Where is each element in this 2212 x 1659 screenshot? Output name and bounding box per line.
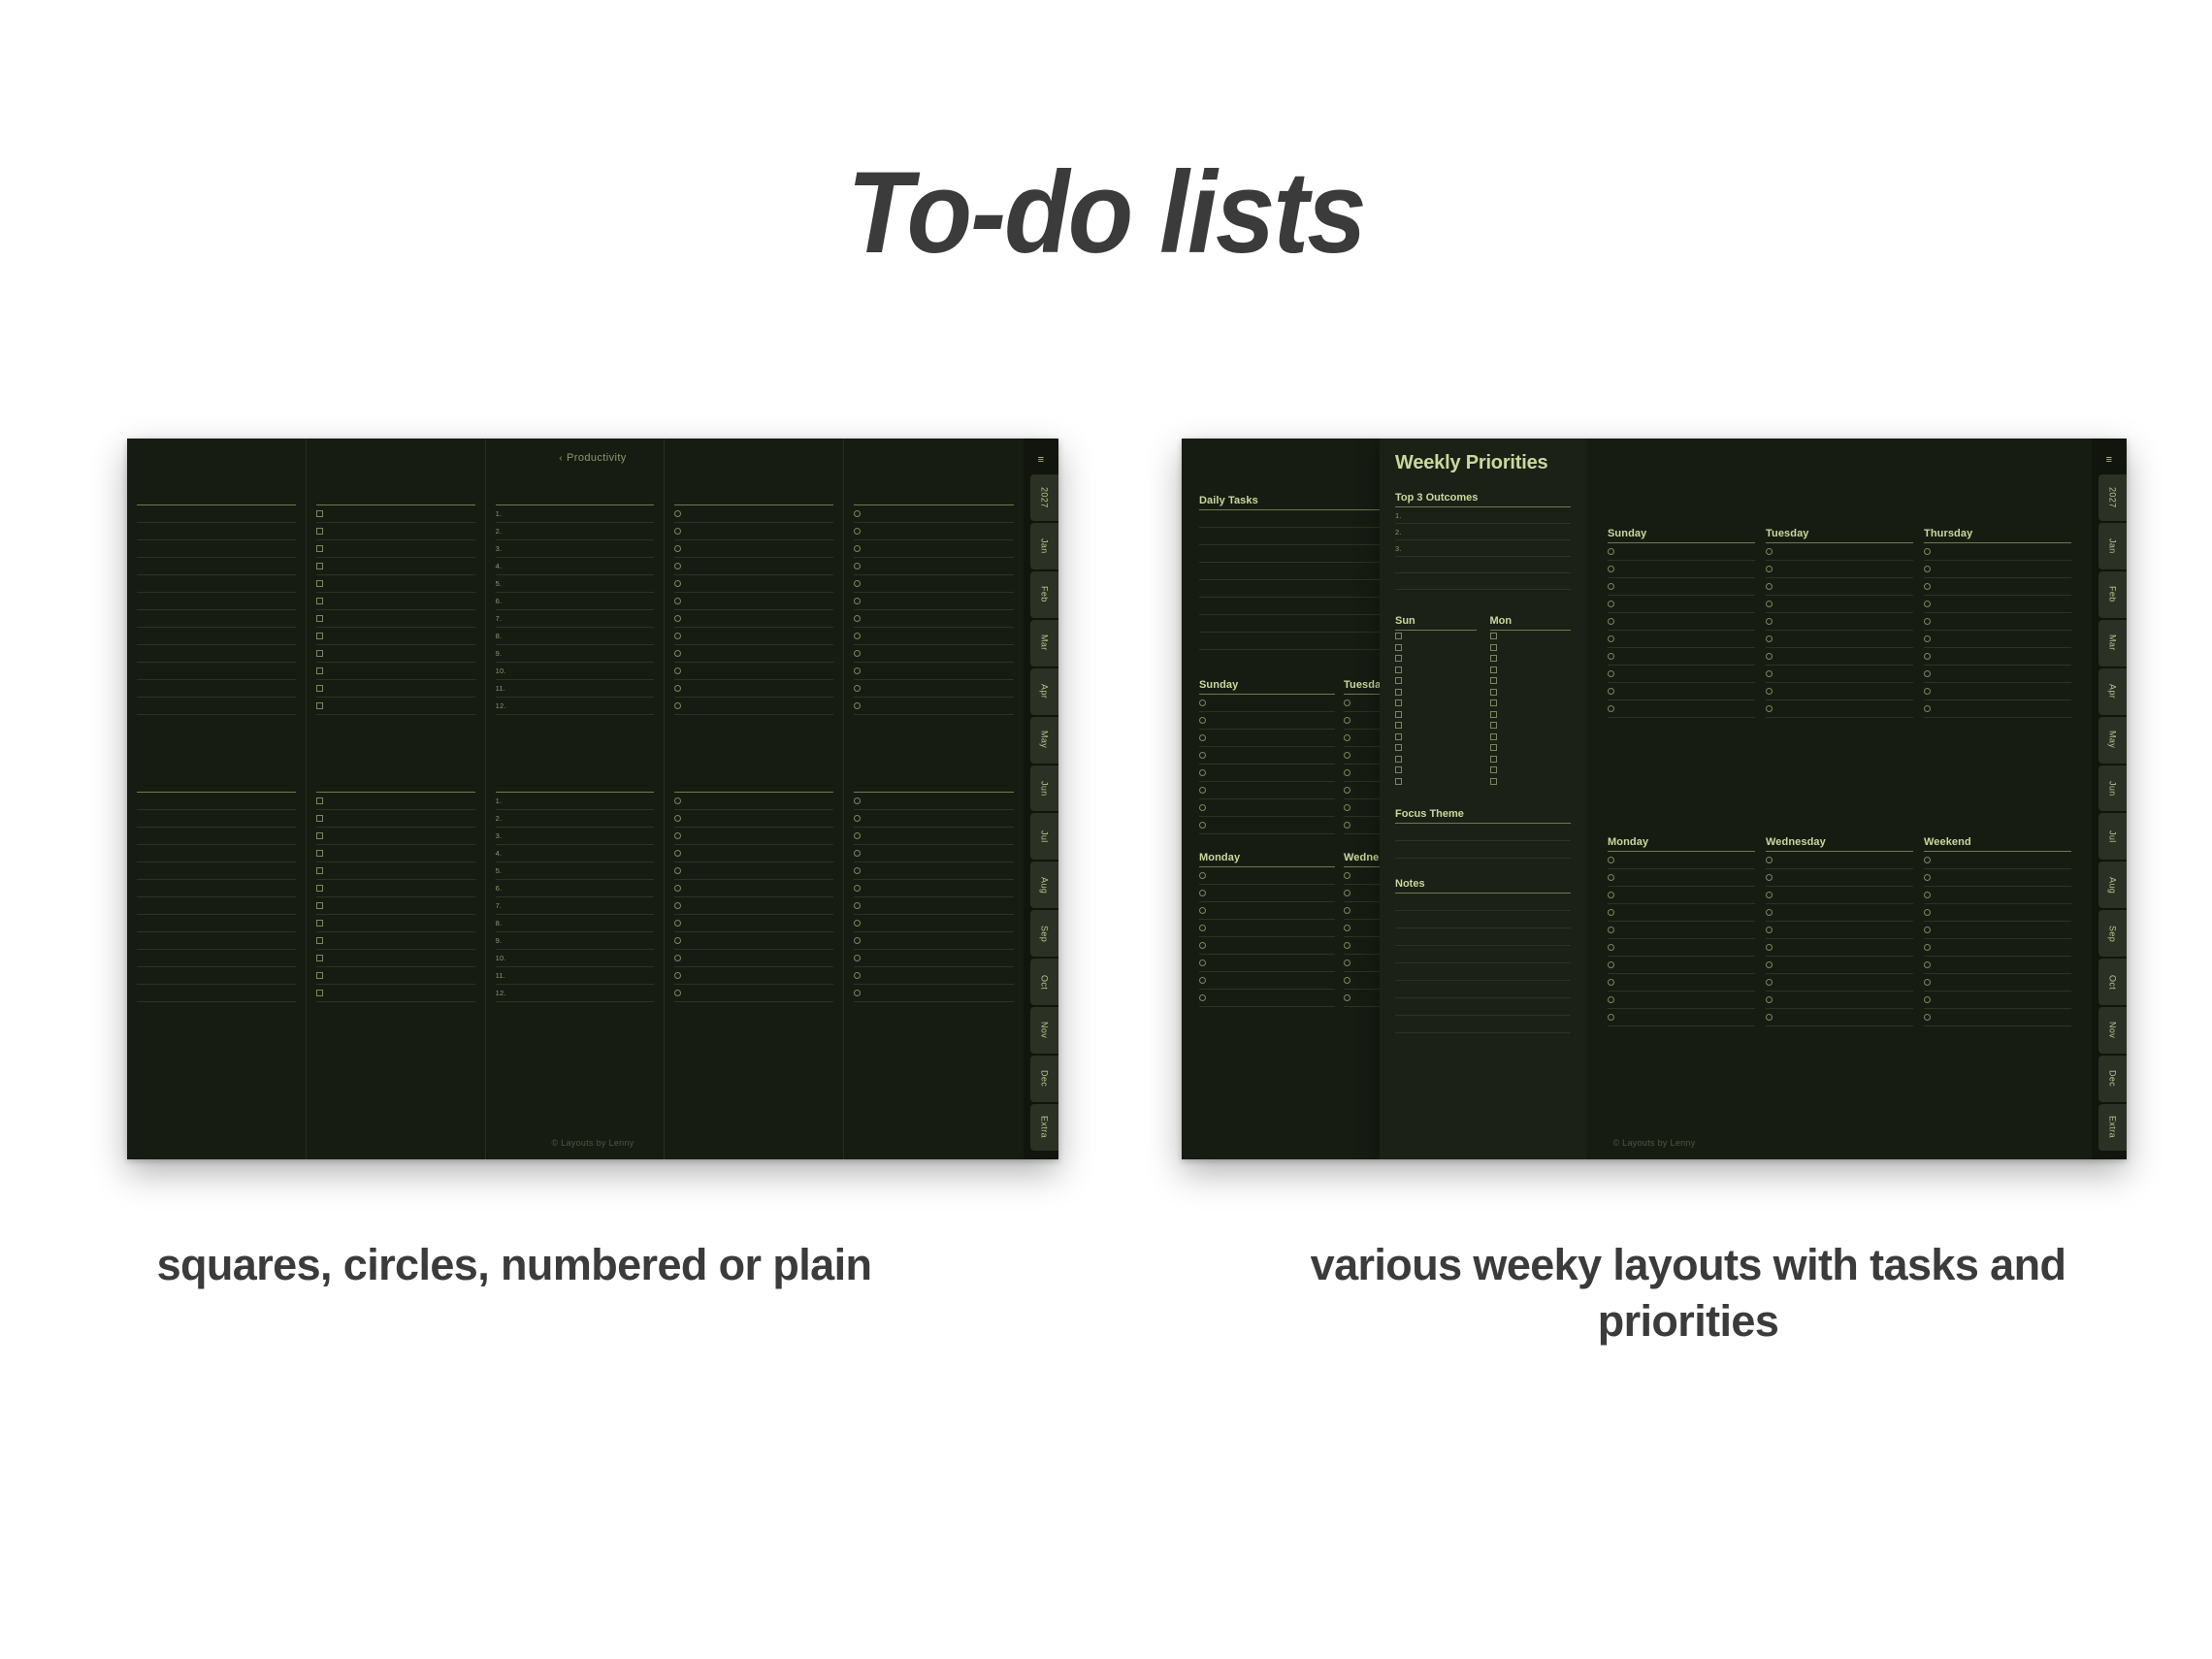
task-row[interactable] — [1395, 963, 1571, 981]
task-row[interactable] — [1924, 613, 2071, 631]
checkbox-square-icon[interactable] — [316, 702, 323, 709]
checkbox-square-icon[interactable] — [1395, 766, 1402, 773]
task-row[interactable] — [1199, 920, 1335, 937]
task-row[interactable] — [1608, 904, 1755, 922]
task-row[interactable] — [674, 593, 833, 610]
task-row[interactable] — [1608, 974, 1755, 992]
checkbox-square-icon[interactable] — [316, 937, 323, 944]
checkbox-circle-icon[interactable] — [1199, 822, 1206, 829]
task-row[interactable] — [1608, 543, 1755, 561]
checkbox-circle-icon[interactable] — [1608, 548, 1614, 555]
task-row[interactable] — [854, 558, 1014, 575]
task-row[interactable] — [674, 932, 833, 950]
checkbox-circle-icon[interactable] — [854, 867, 861, 874]
task-row[interactable] — [1490, 675, 1572, 687]
task-row[interactable] — [674, 845, 833, 862]
task-row[interactable] — [854, 663, 1014, 680]
task-row[interactable] — [674, 645, 833, 663]
checkbox-circle-icon[interactable] — [674, 867, 681, 874]
task-row[interactable] — [1395, 928, 1571, 946]
checkbox-circle-icon[interactable] — [1199, 769, 1206, 776]
task-row[interactable] — [1766, 974, 1913, 992]
checkbox-circle-icon[interactable] — [1766, 1014, 1773, 1021]
checkbox-circle-icon[interactable] — [1344, 977, 1350, 984]
task-row[interactable] — [137, 593, 296, 610]
checkbox-circle-icon[interactable] — [1766, 996, 1773, 1003]
checkbox-circle-icon[interactable] — [674, 685, 681, 692]
checkbox-square-icon[interactable] — [1490, 644, 1497, 651]
task-row[interactable] — [1608, 922, 1755, 939]
checkbox-circle-icon[interactable] — [1344, 717, 1350, 724]
task-row[interactable] — [854, 810, 1014, 828]
task-row[interactable] — [1924, 631, 2071, 648]
task-row[interactable] — [137, 610, 296, 628]
task-row[interactable]: 1. — [496, 505, 655, 523]
task-row[interactable] — [674, 915, 833, 932]
checkbox-square-icon[interactable] — [316, 955, 323, 961]
task-row[interactable] — [674, 663, 833, 680]
month-tab-aug[interactable]: Aug — [2098, 862, 2127, 908]
task-row[interactable] — [1924, 992, 2071, 1009]
checkbox-square-icon[interactable] — [1395, 699, 1402, 706]
task-row[interactable] — [1924, 922, 2071, 939]
task-row[interactable] — [137, 897, 296, 915]
task-row[interactable] — [1766, 648, 1913, 666]
checkbox-square-icon[interactable] — [316, 563, 323, 569]
task-row[interactable] — [1924, 869, 2071, 887]
task-row[interactable] — [1490, 687, 1572, 699]
checkbox-circle-icon[interactable] — [674, 528, 681, 535]
task-row[interactable] — [1395, 557, 1571, 573]
checkbox-circle-icon[interactable] — [854, 615, 861, 622]
checkbox-circle-icon[interactable] — [1766, 601, 1773, 607]
checkbox-circle-icon[interactable] — [674, 920, 681, 927]
checkbox-square-icon[interactable] — [1395, 711, 1402, 718]
checkbox-circle-icon[interactable] — [1608, 857, 1614, 863]
checkbox-circle-icon[interactable] — [1199, 734, 1206, 741]
task-row[interactable] — [316, 967, 475, 985]
task-row[interactable] — [137, 810, 296, 828]
task-row[interactable] — [1395, 894, 1571, 911]
task-row[interactable] — [137, 862, 296, 880]
checkbox-square-icon[interactable] — [1490, 778, 1497, 785]
task-row[interactable] — [1924, 648, 2071, 666]
task-row[interactable] — [137, 628, 296, 645]
task-row[interactable] — [1924, 887, 2071, 904]
checkbox-circle-icon[interactable] — [1199, 994, 1206, 1001]
checkbox-circle-icon[interactable] — [1344, 890, 1350, 896]
checkbox-circle-icon[interactable] — [1766, 653, 1773, 660]
checkbox-circle-icon[interactable] — [1924, 618, 1931, 625]
task-row[interactable] — [854, 575, 1014, 593]
task-row[interactable] — [854, 540, 1014, 558]
task-row[interactable] — [1608, 648, 1755, 666]
checkbox-square-icon[interactable] — [1490, 633, 1497, 639]
task-row[interactable] — [137, 828, 296, 845]
checkbox-circle-icon[interactable] — [1344, 769, 1350, 776]
checkbox-circle-icon[interactable] — [1924, 944, 1931, 951]
checkbox-square-icon[interactable] — [316, 902, 323, 909]
month-tab-apr[interactable]: Apr — [2098, 668, 2127, 715]
task-row[interactable] — [137, 523, 296, 540]
task-row[interactable] — [674, 505, 833, 523]
month-tab-may[interactable]: May — [2098, 717, 2127, 764]
checkbox-circle-icon[interactable] — [1766, 583, 1773, 590]
checkbox-circle-icon[interactable] — [674, 902, 681, 909]
task-row[interactable] — [1490, 698, 1572, 709]
checkbox-square-icon[interactable] — [316, 920, 323, 927]
task-row[interactable] — [1395, 946, 1571, 963]
task-row[interactable] — [1490, 776, 1572, 788]
checkbox-circle-icon[interactable] — [1924, 979, 1931, 986]
checkbox-square-icon[interactable] — [1490, 711, 1497, 718]
task-row[interactable] — [1199, 799, 1335, 817]
task-row[interactable] — [1766, 992, 1913, 1009]
checkbox-square-icon[interactable] — [1395, 633, 1402, 639]
checkbox-square-icon[interactable] — [1395, 667, 1402, 673]
task-row[interactable]: 9. — [496, 645, 655, 663]
outcome-row[interactable]: 3. — [1395, 540, 1571, 557]
checkbox-circle-icon[interactable] — [1608, 1014, 1614, 1021]
task-row[interactable] — [316, 950, 475, 967]
task-row[interactable] — [137, 985, 296, 1002]
checkbox-circle-icon[interactable] — [674, 667, 681, 674]
checkbox-circle-icon[interactable] — [854, 650, 861, 657]
task-row[interactable] — [1608, 957, 1755, 974]
task-row[interactable] — [674, 897, 833, 915]
checkbox-circle-icon[interactable] — [1199, 872, 1206, 879]
checkbox-circle-icon[interactable] — [1766, 961, 1773, 968]
task-row[interactable] — [1395, 709, 1477, 721]
task-row[interactable] — [316, 610, 475, 628]
task-row[interactable] — [316, 645, 475, 663]
task-row[interactable] — [1199, 817, 1335, 834]
checkbox-circle-icon[interactable] — [1199, 907, 1206, 914]
task-row[interactable] — [1395, 720, 1477, 732]
month-tab-aug[interactable]: Aug — [1030, 862, 1058, 908]
checkbox-circle-icon[interactable] — [1924, 705, 1931, 712]
checkbox-circle-icon[interactable] — [674, 598, 681, 604]
checkbox-circle-icon[interactable] — [1924, 857, 1931, 863]
task-row[interactable] — [1924, 974, 2071, 992]
checkbox-circle-icon[interactable] — [1766, 635, 1773, 642]
task-row[interactable]: 4. — [496, 845, 655, 862]
checkbox-circle-icon[interactable] — [854, 580, 861, 587]
checkbox-square-icon[interactable] — [316, 815, 323, 822]
checkbox-square-icon[interactable] — [1490, 667, 1497, 673]
task-row[interactable]: 4. — [496, 558, 655, 575]
checkbox-circle-icon[interactable] — [1344, 752, 1350, 759]
task-row[interactable] — [316, 793, 475, 810]
checkbox-circle-icon[interactable] — [1924, 1014, 1931, 1021]
month-tab-apr[interactable]: Apr — [1030, 668, 1058, 715]
task-row[interactable] — [674, 985, 833, 1002]
task-row[interactable] — [1924, 852, 2071, 869]
checkbox-square-icon[interactable] — [316, 867, 323, 874]
month-tab-jun[interactable]: Jun — [1030, 765, 1058, 812]
task-row[interactable] — [1924, 543, 2071, 561]
outcome-row[interactable]: 1. — [1395, 507, 1571, 524]
month-tab-nov[interactable]: Nov — [1030, 1007, 1058, 1054]
checkbox-circle-icon[interactable] — [1924, 961, 1931, 968]
month-tab-mar[interactable]: Mar — [1030, 620, 1058, 667]
task-row[interactable] — [1924, 561, 2071, 578]
checkbox-circle-icon[interactable] — [1608, 566, 1614, 572]
checkbox-circle-icon[interactable] — [1344, 734, 1350, 741]
checkbox-circle-icon[interactable] — [854, 885, 861, 892]
month-tab-oct[interactable]: Oct — [2098, 959, 2127, 1005]
task-row[interactable] — [1766, 596, 1913, 613]
task-row[interactable] — [854, 628, 1014, 645]
task-row[interactable] — [1766, 561, 1913, 578]
task-row[interactable] — [1924, 666, 2071, 683]
checkbox-circle-icon[interactable] — [674, 937, 681, 944]
task-row[interactable] — [1608, 869, 1755, 887]
checkbox-circle-icon[interactable] — [854, 667, 861, 674]
task-row[interactable] — [1199, 867, 1335, 885]
checkbox-square-icon[interactable] — [316, 685, 323, 692]
hamburger-icon[interactable]: ≡ — [1024, 447, 1058, 472]
task-row[interactable] — [1766, 904, 1913, 922]
checkbox-circle-icon[interactable] — [1766, 705, 1773, 712]
task-row[interactable] — [1490, 665, 1572, 676]
checkbox-circle-icon[interactable] — [1608, 909, 1614, 916]
task-row[interactable] — [854, 680, 1014, 698]
task-row[interactable] — [1490, 709, 1572, 721]
checkbox-circle-icon[interactable] — [1608, 961, 1614, 968]
task-row[interactable] — [674, 680, 833, 698]
checkbox-circle-icon[interactable] — [1924, 874, 1931, 881]
task-row[interactable]: 3. — [496, 828, 655, 845]
task-row[interactable] — [137, 540, 296, 558]
task-row[interactable] — [1199, 972, 1335, 990]
checkbox-circle-icon[interactable] — [854, 528, 861, 535]
checkbox-circle-icon[interactable] — [1924, 635, 1931, 642]
checkbox-square-icon[interactable] — [1395, 722, 1402, 729]
checkbox-circle-icon[interactable] — [1766, 548, 1773, 555]
task-row[interactable] — [316, 680, 475, 698]
task-row[interactable] — [1924, 904, 2071, 922]
task-row[interactable] — [1924, 700, 2071, 718]
month-tab-jul[interactable]: Jul — [1030, 813, 1058, 860]
task-row[interactable] — [1608, 578, 1755, 596]
checkbox-circle-icon[interactable] — [1766, 909, 1773, 916]
month-tab-oct[interactable]: Oct — [1030, 959, 1058, 1005]
checkbox-circle-icon[interactable] — [674, 563, 681, 569]
checkbox-square-icon[interactable] — [1395, 744, 1402, 751]
task-row[interactable] — [316, 828, 475, 845]
checkbox-square-icon[interactable] — [316, 850, 323, 857]
checkbox-circle-icon[interactable] — [1608, 927, 1614, 933]
task-row[interactable] — [1199, 764, 1335, 782]
task-row[interactable] — [1199, 955, 1335, 972]
task-row[interactable] — [316, 915, 475, 932]
task-row[interactable] — [316, 897, 475, 915]
task-row[interactable]: 7. — [496, 897, 655, 915]
task-row[interactable] — [1608, 666, 1755, 683]
checkbox-circle-icon[interactable] — [1608, 688, 1614, 695]
checkbox-circle-icon[interactable] — [1199, 925, 1206, 931]
task-row[interactable] — [1395, 631, 1477, 642]
checkbox-circle-icon[interactable] — [1766, 944, 1773, 951]
task-row[interactable] — [137, 645, 296, 663]
checkbox-circle-icon[interactable] — [854, 955, 861, 961]
task-row[interactable] — [137, 915, 296, 932]
task-row[interactable]: 8. — [496, 915, 655, 932]
checkbox-square-icon[interactable] — [316, 667, 323, 674]
task-row[interactable] — [1608, 887, 1755, 904]
month-tab-jan[interactable]: Jan — [2098, 523, 2127, 569]
checkbox-circle-icon[interactable] — [674, 972, 681, 979]
task-row[interactable] — [1924, 939, 2071, 957]
task-row[interactable] — [137, 845, 296, 862]
month-tab-sep[interactable]: Sep — [2098, 910, 2127, 957]
task-row[interactable] — [1395, 573, 1571, 590]
task-row[interactable] — [316, 593, 475, 610]
task-row[interactable] — [316, 845, 475, 862]
checkbox-circle-icon[interactable] — [1344, 699, 1350, 706]
checkbox-square-icon[interactable] — [1490, 722, 1497, 729]
task-row[interactable] — [137, 680, 296, 698]
checkbox-square-icon[interactable] — [316, 545, 323, 552]
task-row[interactable] — [137, 793, 296, 810]
checkbox-circle-icon[interactable] — [1924, 909, 1931, 916]
task-row[interactable] — [1608, 992, 1755, 1009]
task-row[interactable]: 6. — [496, 593, 655, 610]
task-row[interactable] — [854, 645, 1014, 663]
task-row[interactable] — [674, 793, 833, 810]
task-row[interactable] — [316, 523, 475, 540]
task-row[interactable] — [1766, 578, 1913, 596]
task-row[interactable] — [316, 628, 475, 645]
task-row[interactable] — [1924, 578, 2071, 596]
hamburger-icon[interactable]: ≡ — [2092, 447, 2127, 472]
task-row[interactable] — [1395, 698, 1477, 709]
checkbox-circle-icon[interactable] — [1766, 927, 1773, 933]
checkbox-square-icon[interactable] — [1490, 699, 1497, 706]
task-row[interactable] — [1199, 712, 1335, 730]
task-row[interactable] — [1766, 852, 1913, 869]
month-tab-nov[interactable]: Nov — [2098, 1007, 2127, 1054]
checkbox-circle-icon[interactable] — [1199, 977, 1206, 984]
checkbox-circle-icon[interactable] — [1766, 857, 1773, 863]
task-row[interactable] — [316, 505, 475, 523]
checkbox-square-icon[interactable] — [1395, 756, 1402, 763]
task-row[interactable] — [674, 698, 833, 715]
checkbox-square-icon[interactable] — [1490, 655, 1497, 662]
checkbox-circle-icon[interactable] — [1344, 787, 1350, 794]
task-row[interactable] — [1766, 543, 1913, 561]
task-row[interactable] — [1395, 642, 1477, 654]
task-row[interactable]: 1. — [496, 793, 655, 810]
task-row[interactable] — [137, 880, 296, 897]
month-tab-mar[interactable]: Mar — [2098, 620, 2127, 667]
checkbox-circle-icon[interactable] — [1608, 874, 1614, 881]
task-row[interactable] — [1608, 631, 1755, 648]
task-row[interactable] — [674, 828, 833, 845]
checkbox-circle-icon[interactable] — [1924, 892, 1931, 898]
task-row[interactable] — [1395, 1016, 1571, 1033]
task-row[interactable] — [674, 628, 833, 645]
task-row[interactable] — [1395, 687, 1477, 699]
checkbox-square-icon[interactable] — [316, 528, 323, 535]
task-row[interactable] — [1766, 957, 1913, 974]
checkbox-circle-icon[interactable] — [1199, 717, 1206, 724]
task-row[interactable] — [1924, 596, 2071, 613]
task-row[interactable] — [316, 575, 475, 593]
month-tab-jul[interactable]: Jul — [2098, 813, 2127, 860]
task-row[interactable] — [674, 967, 833, 985]
checkbox-circle-icon[interactable] — [854, 510, 861, 517]
task-row[interactable] — [1395, 841, 1571, 859]
task-row[interactable] — [1608, 561, 1755, 578]
task-row[interactable] — [1395, 911, 1571, 928]
task-row[interactable] — [137, 663, 296, 680]
checkbox-circle-icon[interactable] — [1199, 890, 1206, 896]
checkbox-square-icon[interactable] — [1490, 766, 1497, 773]
checkbox-circle-icon[interactable] — [1766, 566, 1773, 572]
checkbox-circle-icon[interactable] — [854, 972, 861, 979]
checkbox-circle-icon[interactable] — [854, 563, 861, 569]
checkbox-circle-icon[interactable] — [1924, 996, 1931, 1003]
checkbox-circle-icon[interactable] — [1344, 925, 1350, 931]
task-row[interactable] — [316, 932, 475, 950]
checkbox-circle-icon[interactable] — [674, 815, 681, 822]
task-row[interactable] — [674, 575, 833, 593]
checkbox-circle-icon[interactable] — [1766, 892, 1773, 898]
task-row[interactable] — [137, 575, 296, 593]
checkbox-circle-icon[interactable] — [674, 580, 681, 587]
task-row[interactable]: 5. — [496, 575, 655, 593]
task-row[interactable]: 9. — [496, 932, 655, 950]
checkbox-circle-icon[interactable] — [854, 902, 861, 909]
checkbox-circle-icon[interactable] — [854, 545, 861, 552]
checkbox-square-icon[interactable] — [1490, 744, 1497, 751]
task-row[interactable] — [1395, 675, 1477, 687]
task-row[interactable] — [1766, 613, 1913, 631]
task-row[interactable] — [316, 862, 475, 880]
checkbox-circle-icon[interactable] — [1199, 752, 1206, 759]
checkbox-circle-icon[interactable] — [1344, 994, 1350, 1001]
task-row[interactable] — [1608, 700, 1755, 718]
task-row[interactable] — [854, 845, 1014, 862]
task-row[interactable] — [674, 810, 833, 828]
checkbox-circle-icon[interactable] — [854, 832, 861, 839]
checkbox-circle-icon[interactable] — [674, 702, 681, 709]
checkbox-circle-icon[interactable] — [1924, 583, 1931, 590]
checkbox-circle-icon[interactable] — [1766, 618, 1773, 625]
checkbox-circle-icon[interactable] — [1608, 653, 1614, 660]
task-row[interactable]: 7. — [496, 610, 655, 628]
checkbox-circle-icon[interactable] — [674, 797, 681, 804]
task-row[interactable] — [1608, 939, 1755, 957]
checkbox-square-icon[interactable] — [316, 633, 323, 639]
planner-spread-left[interactable]: ‹Productivity 1.2.3.4.5.6.7.8.9.10.11.12… — [127, 439, 1058, 1159]
checkbox-circle-icon[interactable] — [1608, 618, 1614, 625]
task-row[interactable] — [1395, 824, 1571, 841]
month-tab-jun[interactable]: Jun — [2098, 765, 2127, 812]
task-row[interactable] — [137, 558, 296, 575]
checkbox-square-icon[interactable] — [316, 510, 323, 517]
task-row[interactable] — [1199, 937, 1335, 955]
task-row[interactable] — [674, 523, 833, 540]
task-row[interactable] — [854, 862, 1014, 880]
task-row[interactable] — [1199, 902, 1335, 920]
checkbox-circle-icon[interactable] — [1924, 548, 1931, 555]
task-row[interactable] — [1766, 939, 1913, 957]
checkbox-circle-icon[interactable] — [1344, 822, 1350, 829]
checkbox-square-icon[interactable] — [316, 990, 323, 996]
